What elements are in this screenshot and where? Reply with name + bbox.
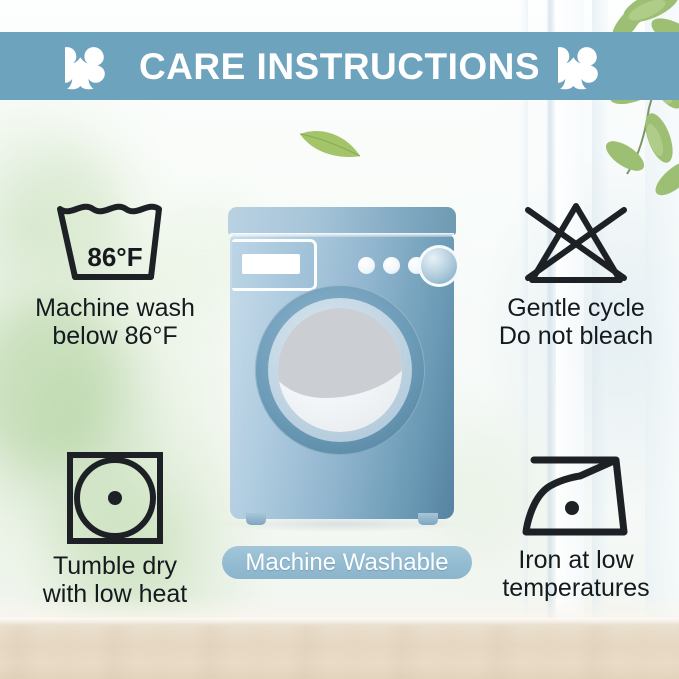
care-symbol-machine-wash: 86°F Machine wash below 86°F bbox=[20, 198, 210, 350]
washer-foot-right bbox=[418, 513, 438, 525]
machine-washable-badge: Machine Washable bbox=[222, 546, 472, 579]
washer-door-glass bbox=[278, 308, 402, 432]
washer-top-lid bbox=[228, 207, 456, 235]
table-edge-highlight bbox=[0, 618, 679, 625]
detergent-drawer-slot bbox=[242, 254, 300, 274]
fleur-de-lis-icon-left bbox=[65, 42, 121, 90]
crossed-triangle-icon bbox=[520, 198, 632, 288]
care-label-do-not-bleach: Gentle cycle Do not bleach bbox=[499, 294, 653, 350]
wood-grain-texture bbox=[0, 625, 679, 679]
tumble-dry-icon bbox=[65, 450, 165, 546]
washer-foot-left bbox=[246, 513, 266, 525]
page-title: CARE INSTRUCTIONS bbox=[139, 48, 540, 85]
washer-button-2 bbox=[383, 257, 400, 274]
header-banner: CARE INSTRUCTIONS bbox=[0, 32, 679, 100]
care-symbol-do-not-bleach: Gentle cycle Do not bleach bbox=[478, 198, 674, 350]
detergent-drawer bbox=[232, 239, 317, 291]
care-label-iron-low: Iron at low temperatures bbox=[502, 546, 649, 602]
wash-tub-icon-wrap: 86°F bbox=[51, 198, 179, 288]
washer-button-1 bbox=[358, 257, 375, 274]
care-instructions-graphic: CARE INSTRUCTIONS 86°F Machine wash belo… bbox=[0, 0, 679, 679]
floating-leaf-icon bbox=[298, 124, 362, 162]
washer-panel-separator bbox=[230, 233, 454, 237]
machine-washable-badge-label: Machine Washable bbox=[245, 549, 448, 577]
care-symbol-tumble-dry: Tumble dry with low heat bbox=[20, 450, 210, 608]
care-symbol-iron-low: Iron at low temperatures bbox=[478, 452, 674, 602]
iron-icon bbox=[520, 452, 632, 540]
wash-temperature-value: 86°F bbox=[51, 242, 179, 273]
care-label-tumble-dry: Tumble dry with low heat bbox=[43, 552, 188, 608]
fleur-de-lis-icon-right bbox=[558, 42, 614, 90]
washing-machine-illustration bbox=[228, 207, 456, 522]
care-label-machine-wash: Machine wash below 86°F bbox=[35, 294, 195, 350]
washer-door-glass-shade bbox=[278, 308, 402, 398]
washer-program-dial bbox=[418, 245, 460, 287]
